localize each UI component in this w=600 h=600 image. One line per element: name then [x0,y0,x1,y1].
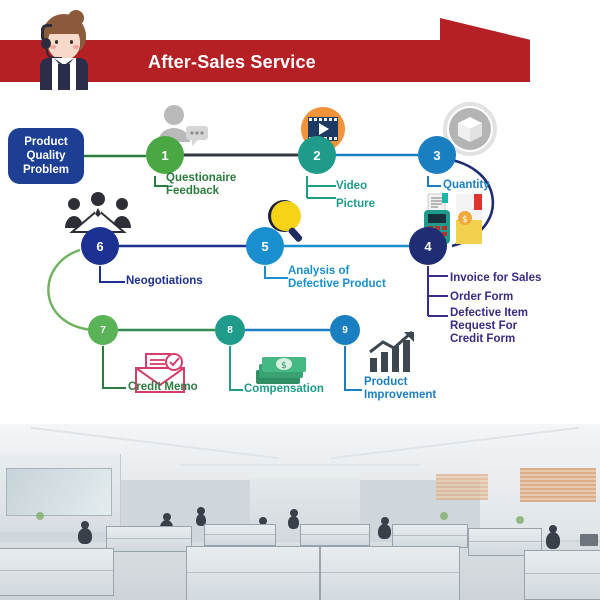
photo-cubicle [320,546,460,600]
step-number-7: 7 [100,325,106,336]
agent-eye-right [70,40,73,44]
photo-plant [36,512,44,520]
leader-6 [100,266,125,282]
step-label-4-line-4: Request For [450,320,541,333]
step-label-6: Neogotiations [126,275,203,288]
page-title: After-Sales Service [148,52,488,74]
photo-person [378,524,391,539]
step-label-9: Product Improvement [364,376,436,402]
step-node-9[interactable]: 9 [330,315,360,345]
infographic-page: After-Sales Service [0,0,600,600]
step-label-9-line-1: Product [364,376,436,389]
step-label-5-line-1: Analysis of [288,265,386,278]
leader-8 [230,346,243,390]
step-node-2[interactable]: 2 [298,136,336,174]
agent-blush-right [73,45,79,49]
start-node-product-quality-problem[interactable]: Product Quality Problem [8,128,84,184]
leader-7 [103,346,126,388]
step-label-9-line-2: Improvement [364,389,436,402]
growth-chart-icon [366,330,422,376]
leader-9 [345,346,362,390]
header-banner: After-Sales Service [0,0,600,100]
photo-cubicle [204,524,276,546]
start-line-2: Quality [23,149,69,163]
photo-window-blinds-right [520,468,596,502]
step-node-7[interactable]: 7 [88,315,118,345]
leader-3 [428,176,441,186]
photo-person [546,532,560,549]
agent-eye-left [55,40,58,44]
step-label-8: Compensation [244,383,324,396]
connector-6-7-loop [48,250,92,330]
step-label-4-line-5: Credit Form [450,333,541,346]
customer-service-agent-avatar [32,8,96,90]
step-label-3-line-1: Quantity [443,179,490,192]
photo-cubicle [524,550,600,600]
photo-cubicle [300,524,370,546]
photo-person [288,516,299,529]
step-label-2-line-2: Picture [336,198,375,211]
photo-monitor [580,534,598,546]
leader-2 [307,176,336,198]
photo-cubicle [392,524,468,548]
step-label-2-line-1: Video [336,180,375,193]
photo-plant [440,512,448,520]
svg-text:$: $ [462,215,468,225]
step-number-3: 3 [433,148,440,163]
step-label-6-line-1: Neogotiations [126,275,203,288]
after-sales-flow-diagram: Product Quality Problem [0,100,600,420]
step-label-4-line-1: Invoice for Sales [450,269,541,288]
step-label-4: Invoice for Sales Order Form Defective I… [450,269,541,346]
office-photo [0,424,600,600]
photo-cubicle [186,546,320,600]
leader-4 [428,266,448,316]
photo-window-blinds-mid [436,474,488,500]
step-label-1: Questionaire Feedback [166,172,236,198]
photo-left-glass [6,468,112,516]
agent-vest [58,64,70,90]
step-label-5-line-2: Defective Product [288,278,386,291]
leader-5 [265,266,288,278]
step-label-8-line-1: Compensation [244,383,324,396]
step-node-6[interactable]: 6 [81,227,119,265]
step-number-5: 5 [261,239,268,254]
step-label-1-line-2: Feedback [166,185,236,198]
photo-cubicle [106,526,192,552]
svg-text:$: $ [281,361,287,371]
step-number-9: 9 [342,325,348,336]
ceiling-light-strip [180,464,420,466]
agent-headset-earpiece [41,38,51,49]
step-label-4-line-3: Defective Item [450,307,541,320]
step-label-7-line-1: Credit Memo [128,381,198,394]
step-number-8: 8 [227,325,233,336]
start-line-1: Product [23,135,69,149]
step-label-3: Quantity [443,179,490,192]
start-line-3: Problem [23,163,69,177]
photo-person [78,528,92,544]
step-node-5[interactable]: 5 [246,227,284,265]
step-node-8[interactable]: 8 [215,315,245,345]
step-node-4[interactable]: 4 [409,227,447,265]
step-number-1: 1 [161,148,168,163]
step-label-2: Video Picture [336,180,375,211]
step-label-4-line-2: Order Form [450,288,541,307]
photo-plant [516,516,524,524]
step-label-7: Credit Memo [128,381,198,394]
step-number-2: 2 [313,148,320,163]
step-number-6: 6 [96,239,103,254]
step-number-4: 4 [424,239,431,254]
photo-cubicle [0,548,114,596]
step-label-1-line-1: Questionaire [166,172,236,185]
step-node-3[interactable]: 3 [418,136,456,174]
step-node-1[interactable]: 1 [146,136,184,174]
step-label-5: Analysis of Defective Product [288,265,386,291]
